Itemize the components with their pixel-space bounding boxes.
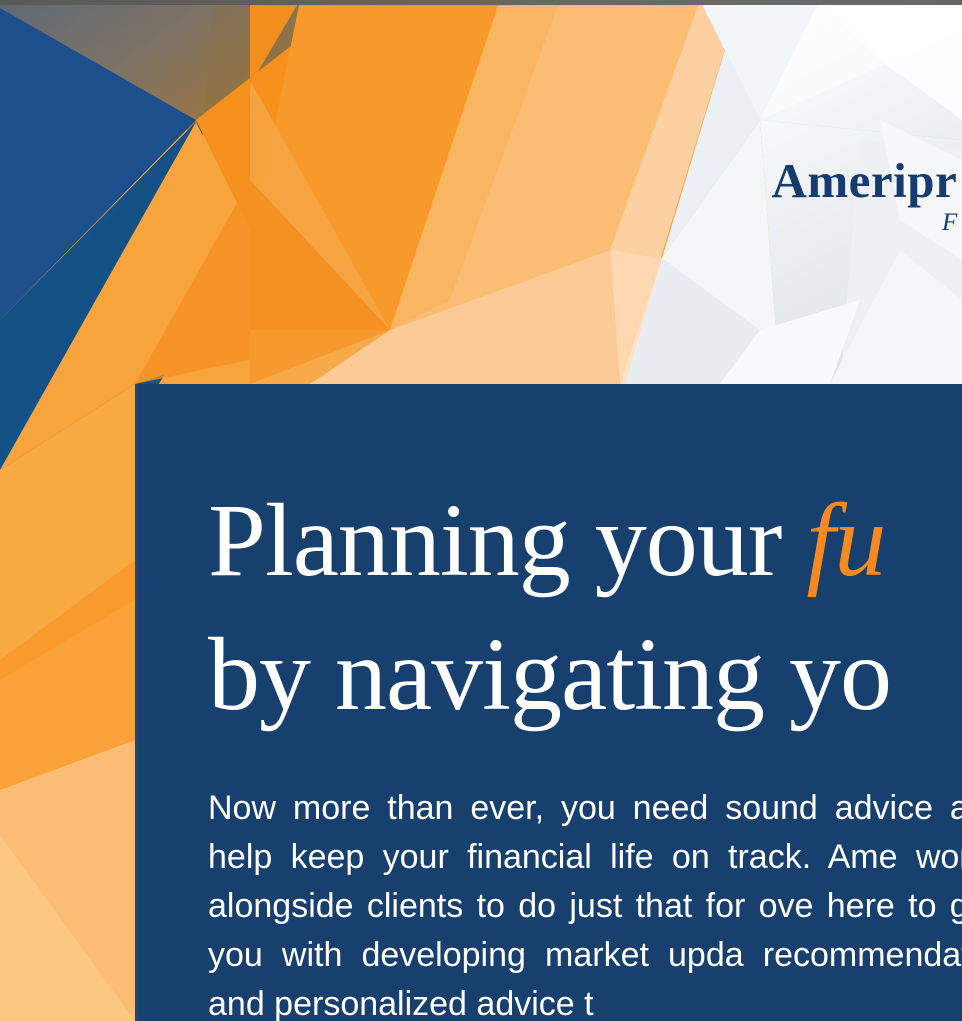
top-edge-strip [0, 0, 962, 5]
card-left-edge [135, 384, 138, 1021]
logo-subtitle: F [762, 210, 957, 236]
content-card: Planning your fu by navigating yo Now mo… [135, 384, 962, 1021]
flyer-page: Ameripr F Planning your fu by navigating… [0, 0, 962, 1021]
headline-line-2: by navigating yo [208, 608, 962, 742]
ameriprise-logo: Ameripr F [762, 152, 957, 236]
headline-accent-word: fu [806, 483, 885, 598]
body-paragraph: Now more than ever, you need sound advic… [208, 784, 962, 1021]
logo-wordmark: Ameripr [762, 152, 957, 210]
headline-line-1-text: Planning your [208, 483, 806, 598]
body-line-1: Now more than ever, you need sound advic… [208, 789, 962, 827]
page-title: Planning your fu by navigating yo [208, 474, 962, 742]
headline-line-1: Planning your fu [208, 474, 962, 608]
